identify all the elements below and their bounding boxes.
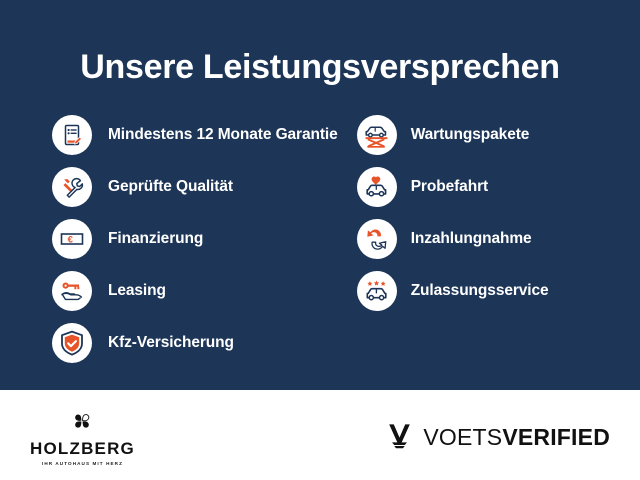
- screwdriver-wrench-icon: [52, 167, 92, 207]
- document-pen-icon: [52, 115, 92, 155]
- feature-label: Kfz-Versicherung: [108, 334, 234, 352]
- feature-item-probefahrt[interactable]: Probefahrt: [357, 161, 590, 213]
- key-hand-icon: [52, 271, 92, 311]
- car-lift-icon: [357, 115, 397, 155]
- svg-text:€: €: [68, 235, 74, 246]
- voets-v-icon: [386, 421, 413, 454]
- page-title: Unsere Leistungsversprechen: [0, 0, 640, 87]
- feature-label: Inzahlungnahme: [411, 230, 532, 248]
- dealer-tagline: IHR AUTOHAUS MIT HERZ: [42, 461, 123, 466]
- exchange-arrows-icon: [357, 219, 397, 259]
- shield-check-icon: [52, 323, 92, 363]
- feature-item-wartungspakete[interactable]: Wartungspakete: [357, 109, 590, 161]
- voets-word: VOETS: [423, 424, 502, 450]
- hero-section: Unsere Leistungsversprechen: [0, 0, 640, 390]
- dealer-logo[interactable]: HOLZBERG IHR AUTOHAUS MIT HERZ: [30, 410, 135, 466]
- clover-icon: [69, 410, 95, 437]
- feature-column-left: Mindestens 12 Monate Garantie Geprüfte Q…: [52, 109, 357, 369]
- feature-item-qualitaet[interactable]: Geprüfte Qualität: [52, 161, 357, 213]
- feature-item-finanzierung[interactable]: € Finanzierung: [52, 213, 357, 265]
- voets-verified-text: VOETSVERIFIED: [423, 424, 610, 451]
- euro-banknote-icon: €: [52, 219, 92, 259]
- feature-label: Zulassungsservice: [411, 282, 549, 300]
- feature-columns: Mindestens 12 Monate Garantie Geprüfte Q…: [0, 109, 640, 369]
- feature-label: Leasing: [108, 282, 166, 300]
- feature-label: Geprüfte Qualität: [108, 178, 233, 196]
- car-heart-icon: [357, 167, 397, 207]
- feature-label: Wartungspakete: [411, 126, 530, 144]
- feature-item-inzahlungnahme[interactable]: Inzahlungnahme: [357, 213, 590, 265]
- verified-word: VERIFIED: [502, 424, 610, 450]
- feature-column-right: Wartungspakete Probefahrt: [357, 109, 590, 369]
- voets-verified-logo[interactable]: VOETSVERIFIED: [386, 421, 610, 454]
- feature-label: Finanzierung: [108, 230, 203, 248]
- feature-item-leasing[interactable]: Leasing: [52, 265, 357, 317]
- feature-item-zulassungsservice[interactable]: Zulassungsservice: [357, 265, 590, 317]
- promo-banner: Unsere Leistungsversprechen: [0, 0, 640, 480]
- feature-label: Mindestens 12 Monate Garantie: [108, 126, 338, 144]
- feature-item-garantie[interactable]: Mindestens 12 Monate Garantie: [52, 109, 357, 161]
- dealer-name: HOLZBERG: [30, 439, 135, 459]
- feature-label: Probefahrt: [411, 178, 488, 196]
- car-stars-icon: [357, 271, 397, 311]
- footer-bar: HOLZBERG IHR AUTOHAUS MIT HERZ VOETSVERI…: [0, 390, 640, 480]
- feature-item-versicherung[interactable]: Kfz-Versicherung: [52, 317, 357, 369]
